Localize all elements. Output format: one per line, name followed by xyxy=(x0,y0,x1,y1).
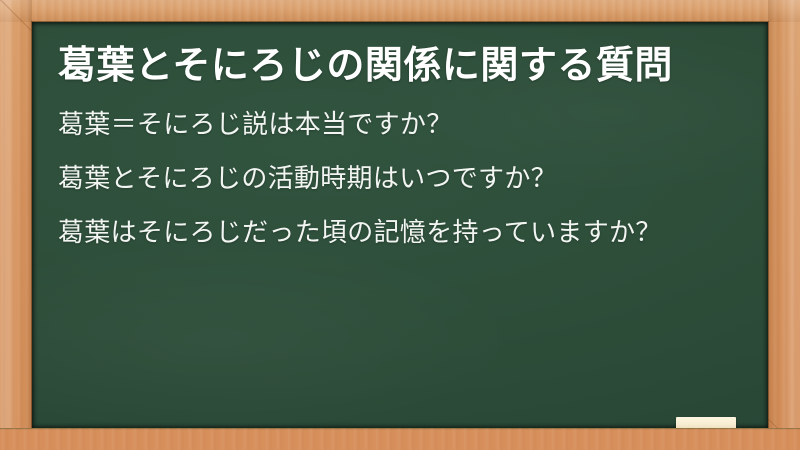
frame-miter-top-left xyxy=(0,0,32,31)
question-item-1: 葛葉＝そにろじ説は本当ですか？ xyxy=(58,108,748,142)
frame-bevel-left xyxy=(0,0,32,450)
frame-bevel-top xyxy=(0,0,800,22)
frame-bevel-right xyxy=(768,0,800,450)
question-item-2: 葛葉とそにろじの活動時期はいつですか？ xyxy=(58,162,748,196)
board-title: 葛葉とそにろじの関係に関する質問 xyxy=(58,44,748,89)
chalkboard-frame: 葛葉とそにろじの関係に関する質問 葛葉＝そにろじ説は本当ですか？ 葛葉とそにろじ… xyxy=(0,0,800,450)
question-item-3: 葛葉はそにろじだった頃の記憶を持っていますか？ xyxy=(58,216,748,250)
ledge-wood-grain xyxy=(0,428,800,450)
question-list: 葛葉＝そにろじ説は本当ですか？ 葛葉とそにろじの活動時期はいつですか？ 葛葉はそ… xyxy=(58,108,748,249)
chalkboard-surface: 葛葉とそにろじの関係に関する質問 葛葉＝そにろじ説は本当ですか？ 葛葉とそにろじ… xyxy=(32,22,768,428)
chalkboard-ledge xyxy=(0,428,800,450)
